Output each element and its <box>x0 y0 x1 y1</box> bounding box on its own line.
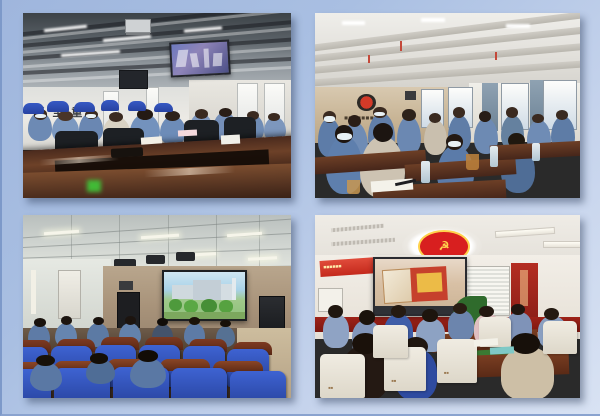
ceiling-grille <box>331 238 395 246</box>
foreground-attendee <box>501 347 554 398</box>
scene-training-classroom: ■■■■■■■■■■ <box>315 13 580 198</box>
chair-with-cover <box>373 325 407 358</box>
ceiling-light <box>248 257 278 262</box>
door <box>58 270 81 320</box>
photo-top-right[interactable]: ■■■■■■■■■■ <box>315 13 580 198</box>
photo-bottom-left[interactable] <box>23 215 291 398</box>
wall-tv-screen <box>170 39 232 78</box>
ceiling-light <box>506 24 530 28</box>
document-paper <box>178 129 197 136</box>
sprinkler-icon <box>368 55 370 63</box>
ceiling-projector <box>176 252 195 261</box>
ceiling-projector <box>146 255 165 264</box>
pillar-text <box>520 270 528 307</box>
tissue-box <box>221 135 240 145</box>
tea-cup <box>347 180 360 195</box>
scene-conference-hall: 任 至 重 <box>23 13 291 198</box>
teal-folder <box>490 346 514 355</box>
ceiling-grille <box>331 224 384 233</box>
photo-bottom-right[interactable]: ☭ ■■■■■■ <box>315 215 580 398</box>
chair-with-cover <box>543 321 577 354</box>
water-bottle <box>532 143 540 162</box>
chair-with-cover: ■■ <box>437 339 477 383</box>
ceiling-light <box>495 227 556 238</box>
tea-cup <box>466 154 479 171</box>
wall-panel-light <box>31 270 36 314</box>
water-bottle <box>421 161 430 183</box>
ceiling-light <box>227 231 262 236</box>
ceiling-light <box>421 18 445 22</box>
collage-canvas: 任 至 重 <box>0 0 600 416</box>
projector <box>125 19 151 34</box>
scene-lecture-theatre <box>23 215 291 398</box>
wall-speaker <box>405 91 416 100</box>
foreground-attendee <box>30 362 62 391</box>
sprinkler-icon <box>400 41 402 51</box>
document-paper <box>141 136 163 145</box>
ceiling-light <box>543 241 580 247</box>
secondary-monitor <box>119 70 148 89</box>
auditorium-seating <box>23 336 291 398</box>
wall-speaker <box>119 281 132 290</box>
foreground-attendee <box>130 358 165 389</box>
chair-with-cover: ■■ <box>320 354 365 398</box>
indicator-light <box>87 180 100 193</box>
photo-top-left[interactable]: 任 至 重 <box>23 13 291 198</box>
water-bottle <box>490 146 498 166</box>
ceiling-light <box>342 21 366 25</box>
sprinkler-icon <box>495 52 497 60</box>
scene-party-meeting-room: ☭ ■■■■■■ <box>315 215 580 398</box>
